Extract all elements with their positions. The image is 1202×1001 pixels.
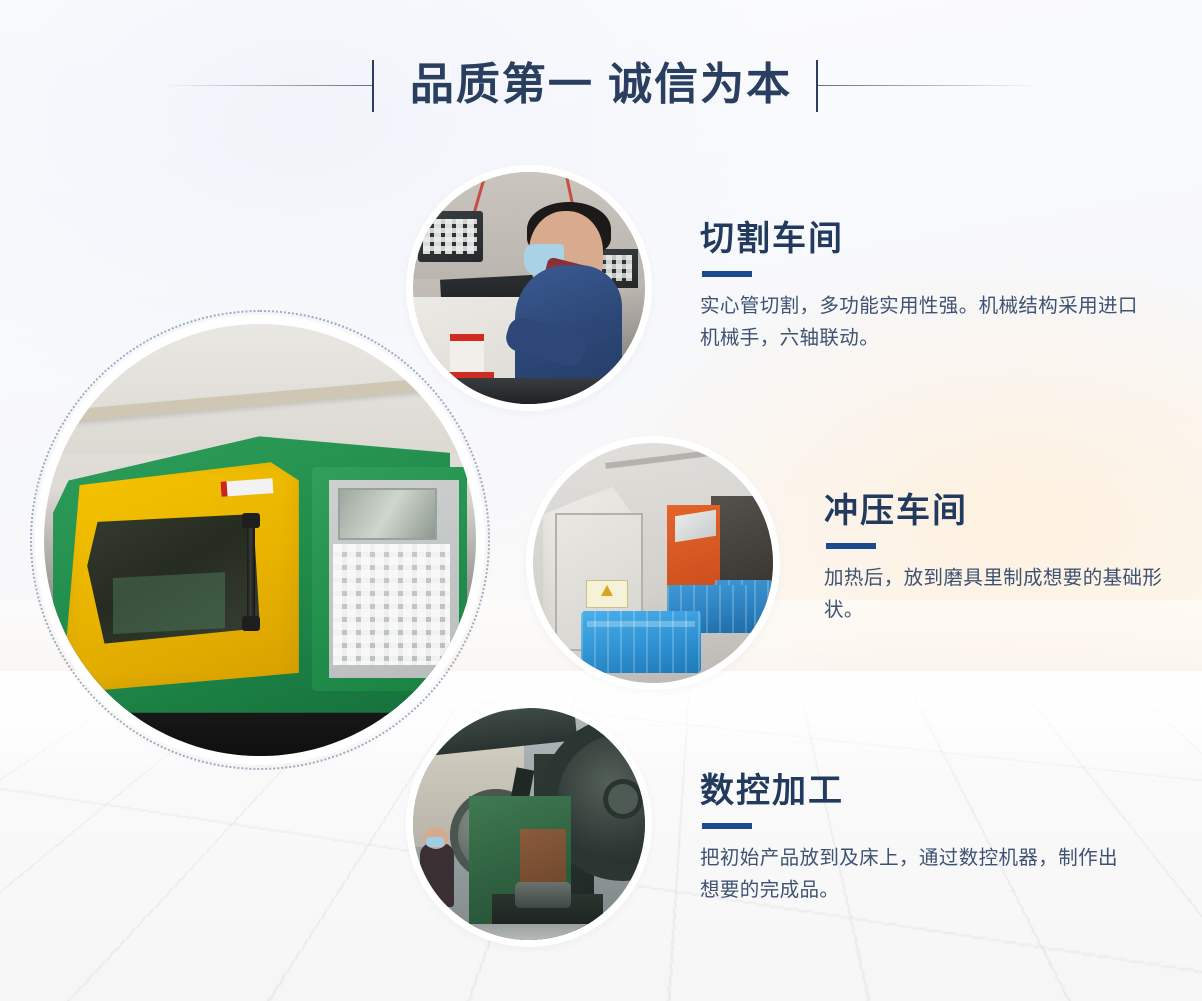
- crate-ribs: [581, 611, 701, 673]
- photo-cnc-lathe-worker: [413, 172, 645, 404]
- section-text-1: 切割车间 实心管切割，多功能实用性强。机械结构采用进口机械手，六轴联动。: [700, 220, 1140, 354]
- skyline-building: [206, 762, 266, 850]
- section-photo-frame-3: [413, 708, 645, 940]
- section-photo-frame-1: [413, 172, 645, 404]
- section-image-circle-1: [413, 172, 645, 404]
- section-text-3: 数控加工 把初始产品放到及床上，通过数控机器，制作出想要的完成品。: [700, 772, 1120, 906]
- machine-warning-sticker: [221, 478, 274, 497]
- section-image-circle-3: [413, 708, 645, 940]
- header-rule-right: [818, 85, 1038, 86]
- section-title-1: 切割车间: [700, 220, 1140, 259]
- skyline-building: [1114, 780, 1162, 850]
- photo-green-punch-press: [413, 708, 645, 940]
- photo-injection-molding-machine: [44, 324, 476, 756]
- photo-floor: [413, 924, 645, 940]
- section-description-1: 实心管切割，多功能实用性强。机械结构采用进口机械手，六轴联动。: [700, 291, 1140, 354]
- section-accent-rule-1: [702, 271, 752, 277]
- section-title-3: 数控加工: [700, 772, 1120, 811]
- page-header: 品质第一 诚信为本: [0, 52, 1202, 118]
- machine-keypad: [333, 544, 450, 665]
- machine-screen: [338, 488, 437, 540]
- lathe-control-left: [418, 211, 483, 262]
- skyline-building: [1168, 748, 1202, 850]
- page-canvas: 品质第一 诚信为本: [0, 0, 1202, 1001]
- header-tick-right: [816, 60, 818, 112]
- blue-crate: [581, 611, 701, 673]
- skyline-building: [106, 786, 158, 850]
- section-image-circle-2: [533, 443, 773, 683]
- section-accent-rule-2: [826, 543, 876, 549]
- section-title-2: 冲压车间: [824, 492, 1184, 531]
- photo-ceiling-pipe: [605, 443, 768, 469]
- section-accent-rule-3: [702, 823, 752, 829]
- worker-figure: [420, 843, 454, 907]
- featured-photo-frame: [44, 324, 476, 756]
- machine-door-handle: [247, 523, 255, 621]
- photo-stamping-machine: [533, 443, 773, 683]
- machine-inner-glass: [113, 572, 225, 634]
- section-description-2: 加热后，放到磨具里制成想要的基础形状。: [824, 563, 1184, 626]
- warning-label-icon: [586, 580, 628, 608]
- press-die: [515, 882, 571, 908]
- skyline-building: [312, 780, 360, 850]
- skyline-building: [20, 772, 64, 850]
- section-text-2: 冲压车间 加热后，放到磨具里制成想要的基础形状。: [824, 492, 1184, 626]
- photo-floor: [413, 378, 645, 404]
- section-photo-frame-2: [533, 443, 773, 683]
- section-description-3: 把初始产品放到及床上，通过数控机器，制作出想要的完成品。: [700, 843, 1120, 906]
